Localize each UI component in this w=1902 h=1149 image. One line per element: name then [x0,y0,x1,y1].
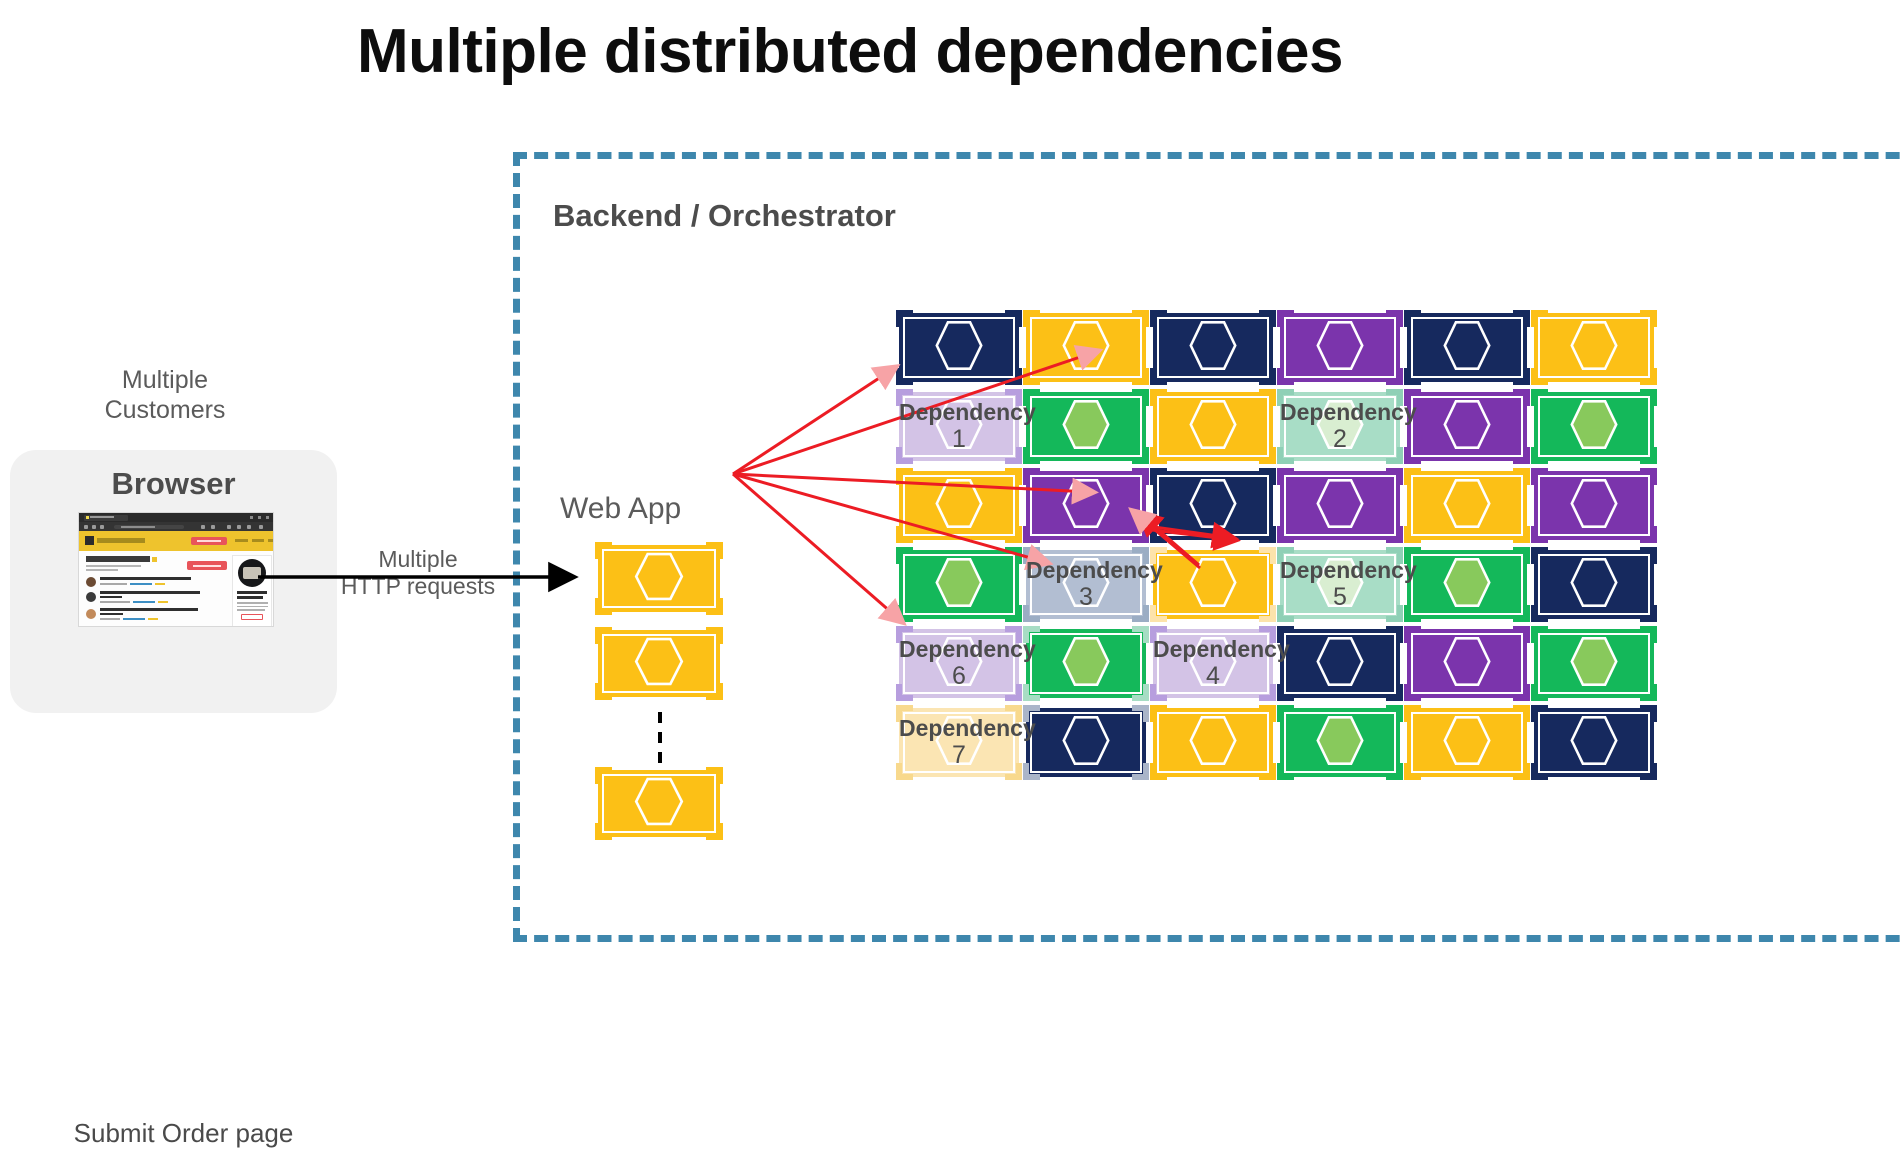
post-comments[interactable] [123,618,145,620]
hexagon-icon [1303,711,1377,774]
customers-line-1: Multiple [40,366,290,396]
corner-bracket-icon [1277,626,1294,643]
corner-bracket-icon [1386,547,1403,564]
corner-bracket-icon [1023,310,1040,327]
corner-bracket-icon [1404,389,1421,406]
hexagon-icon [922,553,996,616]
corner-bracket-icon [1404,605,1421,622]
service-block-r6c4[interactable] [1280,708,1400,777]
service-block-r2c3[interactable] [1153,392,1273,461]
corner-bracket-icon [1386,389,1403,406]
hexagon-icon [1430,632,1504,695]
post-comments[interactable] [133,601,155,603]
corner-bracket-icon [1005,310,1022,327]
service-block-r3c2[interactable] [1026,471,1146,540]
corner-bracket-icon [1132,389,1149,406]
news-subheading-line1 [86,565,141,567]
corner-bracket-icon [1513,763,1530,780]
corner-bracket-icon [1513,447,1530,464]
corner-bracket-icon [1277,468,1294,485]
corner-bracket-icon [1132,468,1149,485]
corner-bracket-icon [1531,468,1548,485]
corner-bracket-icon [1404,547,1421,564]
hexagon-icon [1303,553,1377,616]
close-icon [266,516,269,519]
hexagon-icon [922,316,996,379]
corner-bracket-icon [1404,705,1421,722]
corner-bracket-icon [1277,705,1294,722]
share-icon [237,525,241,529]
submit-order-page-caption: Submit Order page [20,1118,347,1149]
post-time [155,583,165,585]
hexagon-icon [1049,316,1123,379]
corner-bracket-icon [1386,468,1403,485]
post-time [158,601,168,603]
web-app-block-3[interactable] [598,770,720,837]
corner-bracket-icon [1386,526,1403,543]
corner-bracket-icon [1386,310,1403,327]
site-logo-icon [85,536,94,545]
corner-bracket-icon [706,683,723,700]
corner-bracket-icon [595,767,612,784]
hexagon-icon [1049,474,1123,537]
service-block-r1c6[interactable] [1534,313,1654,382]
corner-bracket-icon [595,627,612,644]
news-heading [86,556,150,562]
corner-bracket-icon [706,627,723,644]
browser-title: Browser [10,466,337,502]
corner-bracket-icon [1277,547,1294,564]
corner-bracket-icon [1513,626,1530,643]
customers-line-2: Customers [40,396,290,426]
corner-bracket-icon [1531,763,1548,780]
corner-bracket-icon [1277,605,1294,622]
corner-bracket-icon [1386,684,1403,701]
corner-bracket-icon [1386,705,1403,722]
news-subheading-line2 [86,569,118,571]
corner-bracket-icon [1640,447,1657,464]
sidebar-body [237,602,268,604]
hexagon-icon [621,548,697,609]
corner-bracket-icon [1513,605,1530,622]
corner-bracket-icon [1531,684,1548,701]
http-requests-label: Multiple HTTP requests [318,546,518,600]
corner-bracket-icon [1404,763,1421,780]
corner-bracket-icon [1513,368,1530,385]
dependency-block-7[interactable]: Dependency7 [899,708,1019,777]
corner-bracket-icon [1277,389,1294,406]
corner-bracket-icon [1513,684,1530,701]
corner-bracket-icon [1259,368,1276,385]
corner-bracket-icon [1531,626,1548,643]
web-app-block-1[interactable] [598,545,720,612]
avatar [86,577,96,587]
service-block-r6c5[interactable] [1407,708,1527,777]
corner-bracket-icon [1386,605,1403,622]
corner-bracket-icon [1640,547,1657,564]
corner-bracket-icon [1005,605,1022,622]
corner-bracket-icon [1404,684,1421,701]
corner-bracket-icon [1259,526,1276,543]
post-comments[interactable] [130,583,152,585]
browser-panel: Browser [10,450,337,713]
corner-bracket-icon [896,310,913,327]
corner-bracket-icon [1023,468,1040,485]
corner-bracket-icon [1640,526,1657,543]
service-block-r3c4[interactable] [1280,471,1400,540]
corner-bracket-icon [1150,368,1167,385]
http-line-2: HTTP requests [318,573,518,600]
hexagon-icon [1176,632,1250,695]
corner-bracket-icon [1259,684,1276,701]
service-block-r2c2[interactable] [1026,392,1146,461]
service-block-r6c6[interactable] [1534,708,1654,777]
service-block-r1c3[interactable] [1153,313,1273,382]
corner-bracket-icon [1005,447,1022,464]
post-title[interactable] [100,591,200,594]
service-block-r1c2[interactable] [1026,313,1146,382]
service-block-r4c3[interactable] [1153,550,1273,619]
corner-bracket-icon [595,683,612,700]
hexagon-icon [1176,395,1250,458]
corner-bracket-icon [1132,547,1149,564]
minimize-icon [250,516,253,519]
service-block-r2c5[interactable] [1407,392,1527,461]
corner-bracket-icon [1404,626,1421,643]
hexagon-icon [1430,553,1504,616]
corner-bracket-icon [1404,368,1421,385]
corner-bracket-icon [1259,447,1276,464]
corner-bracket-icon [1259,705,1276,722]
corner-bracket-icon [896,526,913,543]
corner-bracket-icon [1531,389,1548,406]
corner-bracket-icon [1386,447,1403,464]
hexagon-icon [1557,711,1631,774]
corner-bracket-icon [1150,447,1167,464]
corner-bracket-icon [1531,526,1548,543]
corner-bracket-icon [896,447,913,464]
multiple-customers-label: Multiple Customers [40,366,290,425]
corner-bracket-icon [1404,447,1421,464]
hexagon-icon [1303,474,1377,537]
corner-bracket-icon [1150,605,1167,622]
service-block-r3c3[interactable] [1153,471,1273,540]
corner-bracket-icon [1132,447,1149,464]
corner-bracket-icon [1404,526,1421,543]
service-block-r3c1[interactable] [899,471,1019,540]
nav-forum[interactable] [252,539,264,542]
corner-bracket-icon [1640,605,1657,622]
corner-bracket-icon [595,823,612,840]
corner-bracket-icon [1277,368,1294,385]
site-logo-text [97,538,145,543]
corner-bracket-icon [1640,368,1657,385]
http-line-1: Multiple [318,546,518,573]
dependency-block-5[interactable]: Dependency5 [1280,550,1400,619]
corner-bracket-icon [1640,468,1657,485]
hexagon-icon [1430,711,1504,774]
corner-bracket-icon [1277,763,1294,780]
corner-bracket-icon [1023,626,1040,643]
corner-bracket-icon [896,389,913,406]
post-author [100,583,127,585]
post-title[interactable] [100,608,198,611]
hexagon-icon [1049,395,1123,458]
hexagon-icon [1176,474,1250,537]
reading-list-icon [227,525,231,529]
post-title[interactable] [100,596,122,598]
hexagon-icon [1557,553,1631,616]
bookmark-icon [211,525,215,529]
corner-bracket-icon [896,684,913,701]
sidebar-body [237,606,268,608]
hexagon-icon [922,632,996,695]
corner-bracket-icon [1132,684,1149,701]
hexagon-icon [1430,474,1504,537]
corner-bracket-icon [1531,605,1548,622]
corner-bracket-icon [1277,684,1294,701]
post-title[interactable] [100,577,191,580]
corner-bracket-icon [1005,368,1022,385]
corner-bracket-icon [1132,626,1149,643]
hexagon-icon [621,633,697,694]
corner-bracket-icon [1150,763,1167,780]
corner-bracket-icon [896,368,913,385]
service-block-r2c6[interactable] [1534,392,1654,461]
corner-bracket-icon [1531,447,1548,464]
dependency-block-4[interactable]: Dependency4 [1153,629,1273,698]
hexagon-icon [1303,632,1377,695]
sidebar-body [237,609,265,611]
corner-bracket-icon [1023,684,1040,701]
dependency-block-6[interactable]: Dependency6 [899,629,1019,698]
post-author [100,601,130,603]
hexagon-icon [1557,395,1631,458]
corner-bracket-icon [1531,705,1548,722]
corner-bracket-icon [595,542,612,559]
corner-bracket-icon [1150,468,1167,485]
corner-bracket-icon [1259,605,1276,622]
corner-bracket-icon [1259,389,1276,406]
service-block-r6c2[interactable] [1026,708,1146,777]
corner-bracket-icon [1005,389,1022,406]
corner-bracket-icon [1005,705,1022,722]
corner-bracket-icon [1132,605,1149,622]
hexagon-icon [621,773,697,834]
service-block-r5c5[interactable] [1407,629,1527,698]
corner-bracket-icon [1640,684,1657,701]
corner-bracket-icon [1513,547,1530,564]
service-block-r3c6[interactable] [1534,471,1654,540]
hexagon-icon [1557,316,1631,379]
corner-bracket-icon [1023,447,1040,464]
service-block-r5c6[interactable] [1534,629,1654,698]
hexagon-icon [1303,395,1377,458]
corner-bracket-icon [706,598,723,615]
corner-bracket-icon [1386,763,1403,780]
corner-bracket-icon [1023,705,1040,722]
hexagon-icon [1557,474,1631,537]
hexagon-icon [1049,632,1123,695]
avatar [86,592,96,602]
corner-bracket-icon [1640,389,1657,406]
browser-url-text [121,526,155,528]
corner-bracket-icon [1132,310,1149,327]
favicon-icon [86,516,89,519]
corner-bracket-icon [1150,626,1167,643]
corner-bracket-icon [1150,705,1167,722]
corner-bracket-icon [1132,705,1149,722]
corner-bracket-icon [1259,468,1276,485]
corner-bracket-icon [1386,368,1403,385]
hexagon-icon [1303,316,1377,379]
menu-icon [259,525,263,529]
hexagon-icon [1176,553,1250,616]
service-block-r5c4[interactable] [1280,629,1400,698]
corner-bracket-icon [595,598,612,615]
hexagon-icon [922,711,996,774]
hexagon-icon [1049,553,1123,616]
hexagon-icon [1049,711,1123,774]
corner-bracket-icon [1023,368,1040,385]
corner-bracket-icon [896,763,913,780]
corner-bracket-icon [1005,468,1022,485]
corner-bracket-icon [1277,310,1294,327]
corner-bracket-icon [1150,547,1167,564]
nav-learn[interactable] [235,539,248,542]
view-course-button[interactable] [241,614,263,620]
corner-bracket-icon [896,605,913,622]
forward-icon [92,525,96,529]
corner-bracket-icon [1531,368,1548,385]
corner-bracket-icon [1023,526,1040,543]
corner-bracket-icon [1513,526,1530,543]
corner-bracket-icon [1005,547,1022,564]
browser-tab-title [90,516,114,519]
service-block-r5c2[interactable] [1026,629,1146,698]
corner-bracket-icon [1023,389,1040,406]
corner-bracket-icon [1023,605,1040,622]
favorite-icon [201,525,205,529]
nav-resources[interactable] [268,539,274,542]
corner-bracket-icon [1386,626,1403,643]
corner-bracket-icon [1259,763,1276,780]
submit-story-label [193,565,221,567]
course-thumbnail [238,559,266,587]
corner-bracket-icon [1404,468,1421,485]
corner-bracket-icon [896,468,913,485]
web-app-block-2[interactable] [598,630,720,697]
corner-bracket-icon [1132,526,1149,543]
corner-bracket-icon [1005,684,1022,701]
hexagon-icon [1430,395,1504,458]
web-app-label: Web App [560,492,681,526]
corner-bracket-icon [1150,526,1167,543]
corner-bracket-icon [1132,368,1149,385]
hexagon-icon [1430,316,1504,379]
post-title[interactable] [100,613,123,615]
sidebar-heading [237,591,267,594]
corner-bracket-icon [1259,310,1276,327]
post-author [100,618,120,620]
corner-bracket-icon [1513,705,1530,722]
corner-bracket-icon [1023,547,1040,564]
notes-icon [247,525,251,529]
corner-bracket-icon [1640,626,1657,643]
dependency-block-1[interactable]: Dependency1 [899,392,1019,461]
corner-bracket-icon [1277,526,1294,543]
corner-bracket-icon [1023,763,1040,780]
corner-bracket-icon [1640,763,1657,780]
corner-bracket-icon [1132,763,1149,780]
corner-bracket-icon [1150,389,1167,406]
service-block-r4c5[interactable] [1407,550,1527,619]
news-heading-icon [152,557,157,562]
corner-bracket-icon [1531,547,1548,564]
corner-bracket-icon [1513,389,1530,406]
page-title: Multiple distributed dependencies [0,16,1700,87]
back-icon [84,525,88,529]
maximize-icon [258,516,261,519]
hexagon-icon [1176,711,1250,774]
hexagon-icon [922,395,996,458]
corner-bracket-icon [1150,310,1167,327]
avatar [86,609,96,619]
dependency-block-2[interactable]: Dependency2 [1280,392,1400,461]
sidebar-heading [237,596,263,599]
corner-bracket-icon [1005,526,1022,543]
corner-bracket-icon [1259,547,1276,564]
corner-bracket-icon [1277,447,1294,464]
service-block-r4c1[interactable] [899,550,1019,619]
service-block-r4c6[interactable] [1534,550,1654,619]
corner-bracket-icon [1005,626,1022,643]
service-block-r1c4[interactable] [1280,313,1400,382]
service-block-r1c5[interactable] [1407,313,1527,382]
corner-bracket-icon [1005,763,1022,780]
corner-bracket-icon [896,547,913,564]
corner-bracket-icon [896,705,913,722]
service-block-r1c1[interactable] [899,313,1019,382]
corner-bracket-icon [1640,310,1657,327]
corner-bracket-icon [1513,310,1530,327]
corner-bracket-icon [706,823,723,840]
corner-bracket-icon [1513,468,1530,485]
corner-bracket-icon [1531,310,1548,327]
service-block-r3c5[interactable] [1407,471,1527,540]
corner-bracket-icon [896,626,913,643]
corner-bracket-icon [1404,310,1421,327]
corner-bracket-icon [706,542,723,559]
try-javascript-label [197,540,221,542]
corner-bracket-icon [1150,684,1167,701]
hexagon-icon [1557,632,1631,695]
service-block-r6c3[interactable] [1153,708,1273,777]
corner-bracket-icon [706,767,723,784]
backend-orchestrator-label: Backend / Orchestrator [553,198,896,234]
corner-bracket-icon [1259,626,1276,643]
hexagon-icon [1176,316,1250,379]
browser-screenshot[interactable] [78,512,274,627]
dependency-block-3[interactable]: Dependency3 [1026,550,1146,619]
hexagon-icon [922,474,996,537]
corner-bracket-icon [1640,705,1657,722]
reload-icon [100,525,104,529]
post-time [148,618,158,620]
